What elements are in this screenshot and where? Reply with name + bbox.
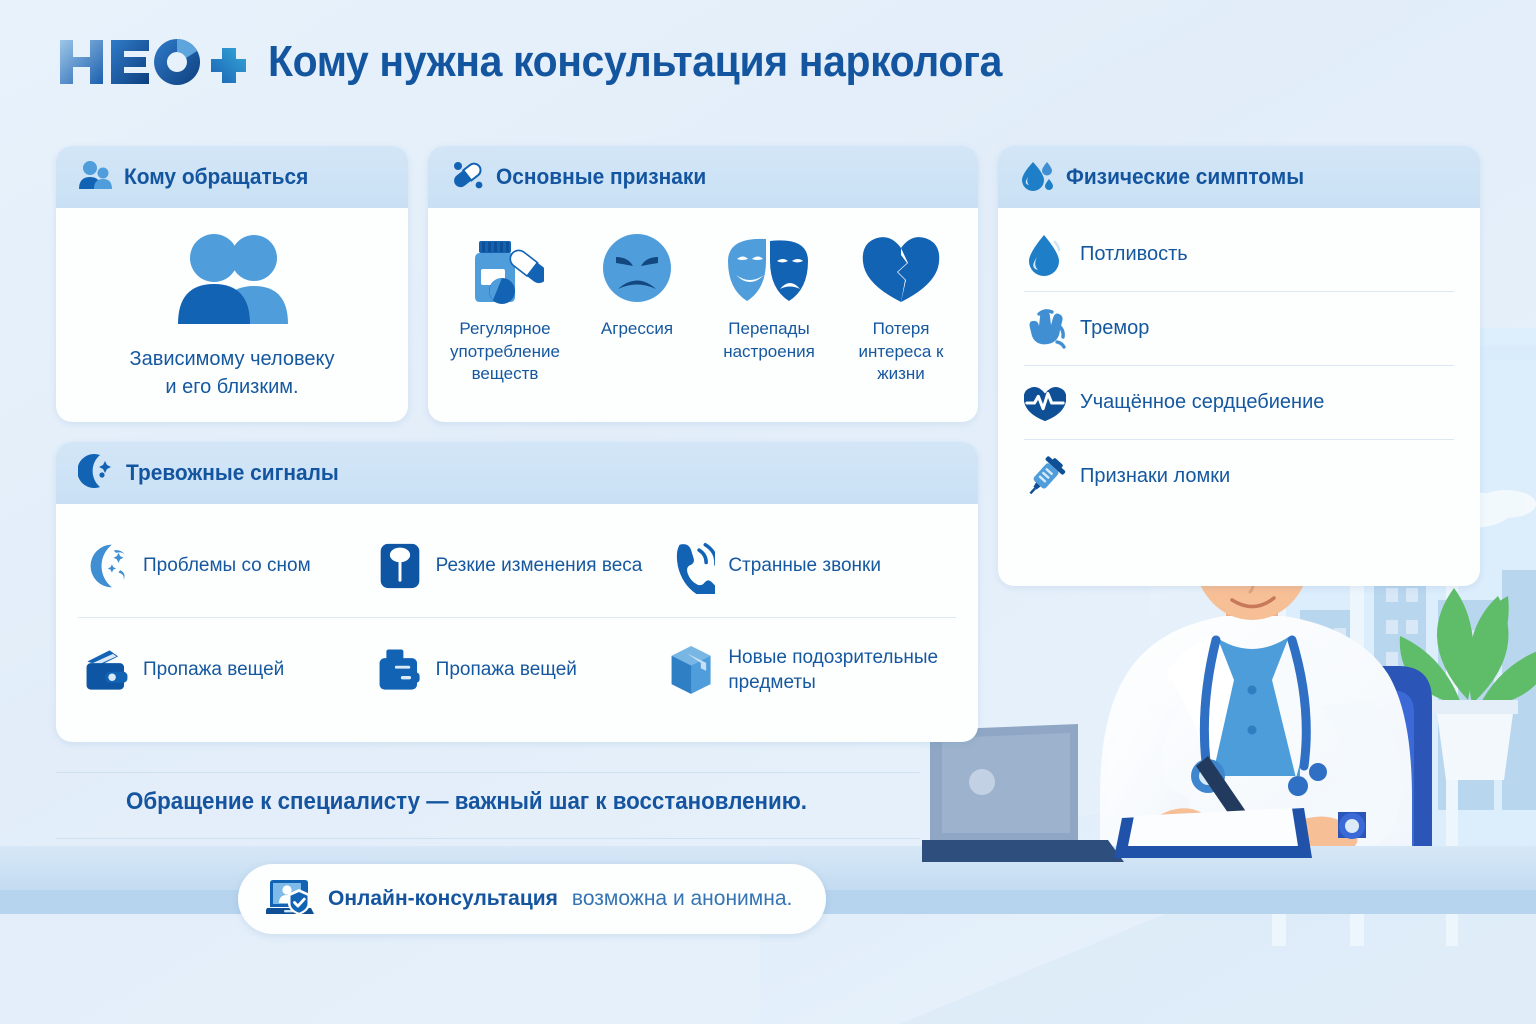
card-title: Кому обращаться <box>124 164 308 190</box>
moon-stars-icon <box>78 453 114 494</box>
badge-strong-text: Онлайн-консультация <box>328 887 558 911</box>
laptop <box>922 724 1124 862</box>
symptom-label: Признаки ломки <box>1080 464 1230 489</box>
card-alarm-signals: Тревожные сигналы Проблемы со сном <box>56 442 978 742</box>
sign-label: Перепады настроения <box>706 318 832 363</box>
card-text: Зависимому человеку и его близким. <box>130 345 335 402</box>
angry-face-icon <box>600 226 674 310</box>
open-wallet-icon <box>84 644 130 696</box>
alarm-item: Новые подозрительные предметы <box>663 618 956 722</box>
card-header: Кому обращаться <box>56 146 408 208</box>
card-body: Зависимому человеку и его близким. <box>56 208 408 420</box>
alarm-item: Пропажа вещей <box>78 618 371 722</box>
alarm-item: Проблемы со сном <box>78 514 371 618</box>
suspicious-box-icon <box>669 641 715 699</box>
alarm-label: Пропажа вещей <box>143 657 284 682</box>
card-body: Потливость Тремор <box>998 208 1480 514</box>
alarm-item: Пропажа вещей <box>371 618 664 722</box>
symptom-row: Признаки ломки <box>1024 440 1454 514</box>
footer-divider-bottom <box>56 838 920 839</box>
card-physical-symptoms: Физические симптомы Потливость <box>998 146 1480 586</box>
water-drops-icon <box>1020 159 1054 196</box>
alarm-item: Странные звонки <box>663 514 956 618</box>
sign-label: Регулярное употребление веществ <box>442 318 568 386</box>
syringe-icon <box>1024 454 1066 500</box>
badge-soft-text: возможна и анонимна. <box>572 887 792 911</box>
sign-item: Потеря интереса к жизни <box>838 226 964 386</box>
sign-label: Потеря интереса к жизни <box>838 318 964 386</box>
alarm-label: Пропажа вещей <box>436 657 577 682</box>
ringing-phone-icon <box>669 538 715 594</box>
page-title: Кому нужна консультация нарколога <box>268 37 1002 87</box>
neo-plus-logo <box>56 34 246 90</box>
closed-wallet-icon <box>377 644 423 696</box>
symptom-label: Учащённое сердцебиение <box>1080 390 1324 415</box>
shaking-hand-icon <box>1024 308 1066 350</box>
pill-bottle-icon <box>466 226 544 310</box>
water-drop-icon <box>1024 233 1066 277</box>
symptom-row: Потливость <box>1024 218 1454 292</box>
laptop-verified-icon <box>266 876 314 923</box>
two-people-large-icon <box>170 232 294 329</box>
card-title: Физические симптомы <box>1066 164 1304 190</box>
sign-item: Агрессия <box>574 226 700 386</box>
sign-label: Агрессия <box>601 318 673 341</box>
broken-heart-icon <box>862 226 940 310</box>
card-main-signs: Основные признаки <box>428 146 978 422</box>
clipboard <box>1114 808 1312 858</box>
online-consultation-badge[interactable]: Онлайн-консультация возможна и анонимна. <box>238 864 826 934</box>
pills-capsule-icon <box>450 159 484 196</box>
bathroom-scale-icon <box>377 539 423 593</box>
card-header: Тревожные сигналы <box>56 442 978 504</box>
theater-masks-icon <box>726 226 812 310</box>
page-header: Кому нужна консультация нарколога <box>56 34 1057 90</box>
card-header: Основные признаки <box>428 146 978 208</box>
card-title: Основные признаки <box>496 164 706 190</box>
symptom-row: Учащённое сердцебиение <box>1024 366 1454 440</box>
alarm-label: Резкие изменения веса <box>436 553 643 578</box>
symptom-row: Тремор <box>1024 292 1454 366</box>
heart-pulse-icon <box>1024 383 1066 423</box>
symptom-label: Тремор <box>1080 316 1149 341</box>
card-who-to-contact: Кому обращаться Зависимому человеку и ег… <box>56 146 408 422</box>
sign-item: Регулярное употребление веществ <box>442 226 568 386</box>
alarm-label: Новые подозрительные предметы <box>728 645 950 695</box>
alarm-label: Проблемы со сном <box>143 553 311 578</box>
footer-divider-top <box>56 772 920 773</box>
footer-tagline: Обращение к специалисту — важный шаг к в… <box>126 788 807 816</box>
two-people-icon <box>78 160 112 195</box>
alarm-item: Резкие изменения веса <box>371 514 664 618</box>
potted-plant <box>1400 588 1536 780</box>
symptom-label: Потливость <box>1080 242 1188 267</box>
sign-item: Перепады настроения <box>706 226 832 386</box>
card-body: Регулярное употребление веществ Агрессия <box>428 208 978 386</box>
moon-sleep-icon <box>84 537 130 595</box>
card-header: Физические симптомы <box>998 146 1480 208</box>
alarm-grid: Проблемы со сном Резкие изменения веса <box>78 514 956 722</box>
alarm-label: Странные звонки <box>728 553 881 578</box>
card-title: Тревожные сигналы <box>126 460 339 486</box>
card-body: Проблемы со сном Резкие изменения веса <box>56 504 978 722</box>
